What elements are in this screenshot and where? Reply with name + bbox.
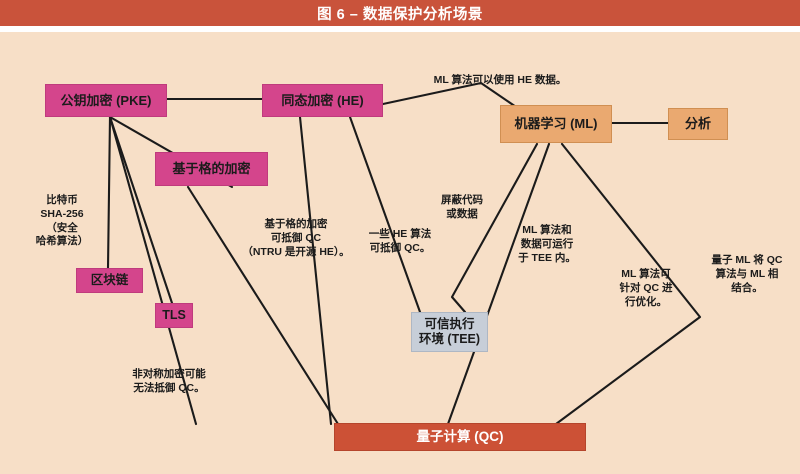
label-asym-not-qc-text: 非对称加密可能 无法抵御 QC。	[132, 368, 206, 394]
label-ml-in-tee-text: ML 算法和 数据可运行 于 TEE 内。	[518, 224, 576, 264]
node-blockchain[interactable]: 区块链	[76, 268, 143, 293]
node-ml-label: 机器学习 (ML)	[514, 116, 597, 131]
node-blockchain-label: 区块链	[91, 273, 129, 288]
diagram-page: 图 6 – 数据保护分析场景	[0, 0, 800, 474]
diagram-canvas: 公钥加密 (PKE) 同态加密 (HE) 基于格的加密 区块链 TLS 机器学习…	[0, 32, 800, 474]
node-tee[interactable]: 可信执行 环境 (TEE)	[411, 312, 488, 352]
node-ml[interactable]: 机器学习 (ML)	[500, 105, 612, 143]
node-pke-label: 公钥加密 (PKE)	[60, 93, 151, 108]
label-ml-opt-qc-text: ML 算法可 针对 QC 进 行优化。	[619, 268, 672, 308]
node-qc[interactable]: 量子计算 (QC)	[334, 423, 586, 451]
node-pke[interactable]: 公钥加密 (PKE)	[45, 84, 167, 117]
label-bitcoin-sha: 比特币 SHA-256 （安全 哈希算法）	[14, 180, 110, 249]
page-title: 图 6 – 数据保护分析场景	[317, 3, 483, 24]
label-lattice-qc: 基于格的加密 可抵御 QC （NTRU 是开源 HE）。	[224, 204, 368, 259]
node-lattice-label: 基于格的加密	[172, 161, 250, 176]
label-bitcoin-sha-text: 比特币 SHA-256 （安全 哈希算法）	[36, 194, 89, 248]
label-quantum-ml: 量子 ML 将 QC 算法与 ML 相 结合。	[703, 240, 791, 295]
node-tee-label: 可信执行 环境 (TEE)	[419, 317, 480, 347]
title-bar: 图 6 – 数据保护分析场景	[0, 0, 800, 26]
label-shield-code-text: 屏蔽代码 或数据	[441, 194, 483, 220]
label-ml-uses-he: ML 算法可以使用 HE 数据。	[395, 60, 605, 88]
node-lattice[interactable]: 基于格的加密	[155, 152, 268, 186]
node-analytics-label: 分析	[685, 116, 711, 131]
node-analytics[interactable]: 分析	[668, 108, 728, 140]
label-lattice-qc-text: 基于格的加密 可抵御 QC （NTRU 是开源 HE）。	[242, 218, 349, 258]
label-shield-code: 屏蔽代码 或数据	[426, 180, 498, 222]
node-he-label: 同态加密 (HE)	[281, 93, 363, 108]
edge-he-qc-left	[300, 117, 331, 424]
label-quantum-ml-text: 量子 ML 将 QC 算法与 ML 相 结合。	[712, 254, 783, 294]
label-ml-opt-qc: ML 算法可 针对 QC 进 行优化。	[607, 254, 685, 309]
label-asym-not-qc: 非对称加密可能 无法抵御 QC。	[110, 354, 228, 396]
node-qc-label: 量子计算 (QC)	[417, 429, 504, 445]
label-some-he-qc-text: 一些 HE 算法 可抵御 QC。	[369, 228, 431, 254]
node-tls-label: TLS	[162, 308, 186, 323]
node-he[interactable]: 同态加密 (HE)	[262, 84, 383, 117]
label-ml-in-tee: ML 算法和 数据可运行 于 TEE 内。	[507, 210, 587, 265]
label-ml-uses-he-text: ML 算法可以使用 HE 数据。	[434, 74, 567, 86]
node-tls[interactable]: TLS	[155, 303, 193, 328]
